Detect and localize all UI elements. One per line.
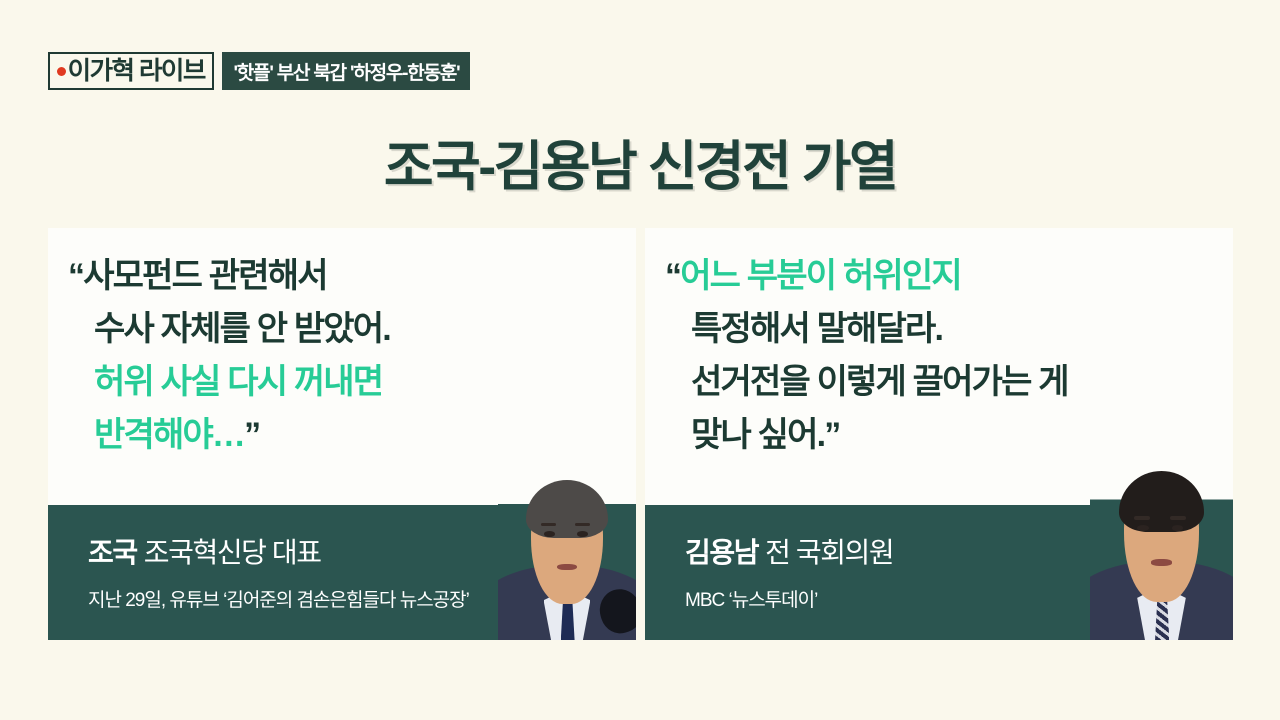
page-title: 조국-김용남 신경전 가열 xyxy=(0,122,1280,201)
quote-line: “어느 부분이 허위인지 xyxy=(665,250,1213,303)
quote-line: 반격해야…” xyxy=(68,409,616,462)
mouth-shape xyxy=(557,564,576,571)
quote-line: “사모펀드 관련해서 xyxy=(68,250,616,303)
eye-right xyxy=(577,531,588,536)
eyebrow-left xyxy=(1134,516,1150,520)
quote-line-text: 사모펀드 관련해서 xyxy=(83,257,327,295)
quote-line-text: 허위 사실 다시 꺼내면 xyxy=(94,363,382,401)
quote-line: 맞나 싶어.” xyxy=(665,409,1213,462)
subtitle-badge: '핫플' 부산 북갑 '하정우-한동훈' xyxy=(222,52,470,90)
eyebrow-right xyxy=(575,523,590,527)
quote-line: 특정해서 말해달라. xyxy=(665,303,1213,356)
portrait-kim-yong-nam xyxy=(1090,460,1233,640)
eyebrow-right xyxy=(1170,516,1186,520)
mouth-shape xyxy=(1151,559,1171,566)
quote-line-text: 특정해서 말해달라. xyxy=(691,310,942,348)
portrait-cho-kuk xyxy=(498,470,636,640)
quote-line: 허위 사실 다시 꺼내면 xyxy=(68,356,616,409)
speaker-role: 전 국회의원 xyxy=(765,537,893,568)
quote-line-text: 선거전을 이렇게 끌어가는 게 xyxy=(691,363,1068,401)
quote-line: 선거전을 이렇게 끌어가는 게 xyxy=(665,356,1213,409)
open-quote-mark: “ xyxy=(68,257,83,295)
eye-right xyxy=(1172,525,1183,531)
speaker-role: 조국혁신당 대표 xyxy=(144,537,321,568)
quote-line: 수사 자체를 안 받았어. xyxy=(68,303,616,356)
channel-logo: 이가혁 라이브 xyxy=(48,52,214,90)
eyebrow-left xyxy=(541,523,556,527)
speaker-name: 조국 xyxy=(88,537,137,568)
broadcast-header: 이가혁 라이브 '핫플' 부산 북갑 '하정우-한동훈' xyxy=(48,52,470,90)
quote-line-text: 어느 부분이 허위인지 xyxy=(680,257,961,295)
quote-text-left: “사모펀드 관련해서 수사 자체를 안 받았어. 허위 사실 다시 꺼내면 반격… xyxy=(48,228,636,505)
quote-line-text: 반격해야… xyxy=(94,416,244,454)
quote-line-text: 맞나 싶어. xyxy=(691,416,824,454)
speaker-name: 김용남 xyxy=(685,537,758,568)
close-quote-mark: ” xyxy=(244,416,259,454)
eye-left xyxy=(544,531,555,536)
close-quote-mark: ” xyxy=(824,416,839,454)
open-quote-mark: “ xyxy=(665,257,680,295)
live-red-dot-icon xyxy=(57,67,66,76)
quote-line-text: 수사 자체를 안 받았어. xyxy=(94,310,390,348)
channel-logo-label: 이가혁 라이브 xyxy=(68,59,205,84)
eye-left xyxy=(1137,525,1148,531)
